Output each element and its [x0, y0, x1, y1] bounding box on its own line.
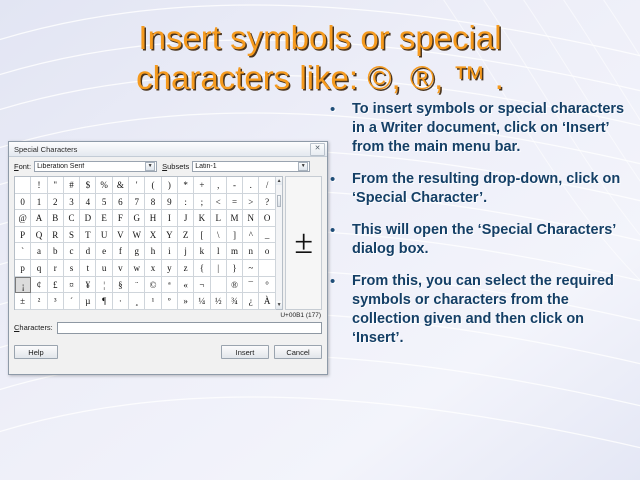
bullet-text: To insert symbols or special characters …: [352, 100, 636, 157]
insert-button[interactable]: Insert: [221, 345, 269, 359]
list-item: • From this, you can select the required…: [326, 272, 636, 348]
character-cell[interactable]: :: [178, 194, 194, 211]
character-cell[interactable]: 3: [64, 194, 80, 211]
character-cell[interactable]: B: [48, 210, 64, 227]
bullet-marker-icon: •: [326, 100, 352, 119]
character-cell[interactable]: £: [48, 277, 64, 294]
character-cell[interactable]: ®: [227, 277, 243, 294]
character-cell[interactable]: ,: [211, 177, 227, 194]
bullet-marker-icon: •: [326, 272, 352, 291]
bullet-text: This will open the ‘Special Characters’ …: [352, 221, 636, 259]
title-line-2: characters like: ©, ®, ™ .: [40, 58, 600, 98]
character-cell[interactable]: z: [178, 260, 194, 277]
character-cell[interactable]: t: [80, 260, 96, 277]
bullet-list: • To insert symbols or special character…: [326, 100, 636, 361]
character-cell[interactable]: º: [162, 293, 178, 310]
list-item: • From the resulting drop-down, click on…: [326, 170, 636, 208]
character-cell[interactable]: 8: [145, 194, 161, 211]
character-cell[interactable]: 9: [162, 194, 178, 211]
preview-character: ±: [294, 226, 313, 260]
character-cell[interactable]: ¬: [194, 277, 210, 294]
character-cell[interactable]: a: [31, 243, 47, 260]
character-cell[interactable]: K: [194, 210, 210, 227]
character-cell[interactable]: ©: [145, 277, 161, 294]
character-cell[interactable]: =: [227, 194, 243, 211]
character-cell[interactable]: w: [129, 260, 145, 277]
character-cell[interactable]: Y: [162, 227, 178, 244]
character-cell[interactable]: b: [48, 243, 64, 260]
title-line-1: Insert symbols or special: [40, 18, 600, 58]
list-item: • To insert symbols or special character…: [326, 100, 636, 157]
character-cell[interactable]: o: [259, 243, 275, 260]
character-cell[interactable]: d: [80, 243, 96, 260]
scroll-down-icon[interactable]: ▼: [276, 301, 283, 309]
character-cell[interactable]: ¢: [31, 277, 47, 294]
character-cell[interactable]: µ: [80, 293, 96, 310]
character-cell[interactable]: ¨: [129, 277, 145, 294]
character-cell[interactable]: x: [145, 260, 161, 277]
scroll-up-icon[interactable]: ▲: [276, 177, 283, 185]
character-cell[interactable]: m: [227, 243, 243, 260]
character-cell[interactable]: 6: [113, 194, 129, 211]
cancel-button[interactable]: Cancel: [274, 345, 322, 359]
character-cell[interactable]: -: [227, 177, 243, 194]
character-cell[interactable]: .: [243, 177, 259, 194]
help-button[interactable]: Help: [14, 345, 58, 359]
character-cell[interactable]: ª: [162, 277, 178, 294]
character-cell[interactable]: ¿: [243, 293, 259, 310]
dialog-button-row: Help Insert Cancel: [14, 345, 322, 364]
dialog-title: Special Characters: [14, 145, 310, 154]
character-cell[interactable]: $: [80, 177, 96, 194]
character-cell[interactable]: 4: [80, 194, 96, 211]
character-cell[interactable]: 1: [31, 194, 47, 211]
font-label: Font:: [14, 162, 31, 171]
character-cell[interactable]: ²: [31, 293, 47, 310]
character-cell[interactable]: ³: [48, 293, 64, 310]
character-cell[interactable]: _: [259, 227, 275, 244]
character-cell[interactable]: >: [243, 194, 259, 211]
character-cell[interactable]: ¹: [145, 293, 161, 310]
character-grid[interactable]: !"#$%&'()*+,-./0123456789:;<=>?@ABCDEFGH…: [14, 176, 276, 310]
font-dropdown[interactable]: Liberation Serif ▼: [34, 161, 157, 172]
character-cell[interactable]: g: [129, 243, 145, 260]
bullet-text: From this, you can select the required s…: [352, 272, 636, 348]
character-cell[interactable]: 0: [15, 194, 31, 211]
scrollbar-track[interactable]: [276, 207, 283, 301]
character-cell[interactable]: ¤: [64, 277, 80, 294]
character-cell[interactable]: ¥: [80, 277, 96, 294]
slide-canvas: Insert symbols or special characters lik…: [0, 0, 640, 480]
character-cell[interactable]: R: [48, 227, 64, 244]
character-cell[interactable]: !: [31, 177, 47, 194]
character-cell[interactable]: u: [96, 260, 112, 277]
character-cell[interactable]: ½: [211, 293, 227, 310]
page-title: Insert symbols or special characters lik…: [40, 18, 600, 98]
character-cell[interactable]: [259, 260, 275, 277]
character-cell[interactable]: O: [259, 210, 275, 227]
close-icon[interactable]: ✕: [310, 143, 325, 156]
character-cell[interactable]: N: [243, 210, 259, 227]
character-cell[interactable]: [15, 177, 31, 194]
character-code-row: U+00B1 (177): [14, 312, 322, 319]
character-cell[interactable]: F: [113, 210, 129, 227]
character-cell[interactable]: T: [80, 227, 96, 244]
character-cell[interactable]: \: [211, 227, 227, 244]
character-cell[interactable]: @: [15, 210, 31, 227]
character-cell[interactable]: j: [178, 243, 194, 260]
character-cell[interactable]: L: [211, 210, 227, 227]
characters-field-row: Characters:: [14, 322, 322, 334]
scrollbar-thumb[interactable]: [277, 195, 282, 207]
character-cell[interactable]: (: [145, 177, 161, 194]
chevron-down-icon[interactable]: ▼: [298, 162, 308, 171]
character-cell[interactable]: D: [80, 210, 96, 227]
character-cell[interactable]: l: [211, 243, 227, 260]
character-cell[interactable]: {: [194, 260, 210, 277]
character-cell[interactable]: °: [259, 277, 275, 294]
character-cell[interactable]: v: [113, 260, 129, 277]
chevron-down-icon[interactable]: ▼: [145, 162, 155, 171]
dialog-titlebar: Special Characters ✕: [9, 142, 327, 157]
character-cell[interactable]: I: [162, 210, 178, 227]
character-cell[interactable]: n: [243, 243, 259, 260]
character-cell[interactable]: ­: [211, 277, 227, 294]
character-cell[interactable]: C: [64, 210, 80, 227]
character-cell[interactable]: H: [145, 210, 161, 227]
character-cell[interactable]: |: [211, 260, 227, 277]
character-cell[interactable]: ]: [227, 227, 243, 244]
character-cell[interactable]: }: [227, 260, 243, 277]
characters-input[interactable]: [57, 322, 322, 334]
character-cell[interactable]: S: [64, 227, 80, 244]
character-cell[interactable]: Q: [31, 227, 47, 244]
bullet-marker-icon: •: [326, 170, 352, 189]
character-cell[interactable]: ¾: [227, 293, 243, 310]
character-cell[interactable]: /: [259, 177, 275, 194]
character-cell[interactable]: k: [194, 243, 210, 260]
subsets-label: Subsets: [162, 162, 189, 171]
character-cell[interactable]: X: [145, 227, 161, 244]
character-cell[interactable]: +: [194, 177, 210, 194]
character-cell[interactable]: c: [64, 243, 80, 260]
special-characters-dialog: Special Characters ✕ Font: Liberation Se…: [8, 141, 328, 375]
character-cell[interactable]: i: [162, 243, 178, 260]
character-cell[interactable]: ¼: [194, 293, 210, 310]
character-cell[interactable]: ¸: [129, 293, 145, 310]
character-cell[interactable]: A: [31, 210, 47, 227]
bullet-text: From the resulting drop-down, click on ‘…: [352, 170, 636, 208]
character-cell[interactable]: Z: [178, 227, 194, 244]
character-cell[interactable]: ¯: [243, 277, 259, 294]
font-value: Liberation Serif: [35, 163, 145, 170]
character-cell[interactable]: ´: [64, 293, 80, 310]
bullet-marker-icon: •: [326, 221, 352, 240]
character-cell[interactable]: V: [113, 227, 129, 244]
character-cell[interactable]: 5: [96, 194, 112, 211]
character-grid-area: !"#$%&'()*+,-./0123456789:;<=>?@ABCDEFGH…: [14, 176, 322, 310]
character-cell[interactable]: E: [96, 210, 112, 227]
character-cell[interactable]: ?: [259, 194, 275, 211]
character-cell[interactable]: À: [259, 293, 275, 310]
character-cell[interactable]: ^: [243, 227, 259, 244]
character-preview: ±: [285, 176, 322, 310]
character-cell[interactable]: U: [96, 227, 112, 244]
list-item: • This will open the ‘Special Characters…: [326, 221, 636, 259]
character-cell[interactable]: r: [48, 260, 64, 277]
character-cell[interactable]: ·: [113, 293, 129, 310]
character-cell[interactable]: J: [178, 210, 194, 227]
character-cell[interactable]: s: [64, 260, 80, 277]
character-cell[interactable]: h: [145, 243, 161, 260]
character-cell[interactable]: M: [227, 210, 243, 227]
character-cell[interactable]: ): [162, 177, 178, 194]
character-cell[interactable]: W: [129, 227, 145, 244]
characters-label: Characters:: [14, 323, 53, 332]
character-cell[interactable]: f: [113, 243, 129, 260]
character-cell[interactable]: y: [162, 260, 178, 277]
font-selector-row: Font: Liberation Serif ▼ Subsets Latin-1…: [14, 161, 322, 172]
character-cell[interactable]: ~: [243, 260, 259, 277]
character-cell[interactable]: [: [194, 227, 210, 244]
character-cell[interactable]: 2: [48, 194, 64, 211]
character-cell[interactable]: 7: [129, 194, 145, 211]
dialog-body: Font: Liberation Serif ▼ Subsets Latin-1…: [9, 157, 327, 364]
character-cell[interactable]: `: [15, 243, 31, 260]
character-cell[interactable]: P: [15, 227, 31, 244]
character-cell[interactable]: <: [211, 194, 227, 211]
character-cell[interactable]: %: [96, 177, 112, 194]
character-code: U+00B1 (177): [280, 312, 321, 319]
character-cell[interactable]: &: [113, 177, 129, 194]
character-cell[interactable]: q: [31, 260, 47, 277]
grid-scrollbar[interactable]: ▲ ▼: [276, 176, 284, 310]
character-cell[interactable]: ¦: [96, 277, 112, 294]
character-cell[interactable]: *: [178, 177, 194, 194]
character-cell[interactable]: ¡: [15, 277, 31, 294]
character-cell[interactable]: ±: [15, 293, 31, 310]
character-cell[interactable]: G: [129, 210, 145, 227]
subsets-dropdown[interactable]: Latin-1 ▼: [192, 161, 310, 172]
character-cell[interactable]: ': [129, 177, 145, 194]
character-cell[interactable]: ¶: [96, 293, 112, 310]
character-cell[interactable]: «: [178, 277, 194, 294]
character-cell[interactable]: »: [178, 293, 194, 310]
subsets-value: Latin-1: [193, 163, 298, 170]
character-cell[interactable]: e: [96, 243, 112, 260]
character-cell[interactable]: §: [113, 277, 129, 294]
character-cell[interactable]: p: [15, 260, 31, 277]
character-cell[interactable]: ": [48, 177, 64, 194]
character-cell[interactable]: #: [64, 177, 80, 194]
character-cell[interactable]: ;: [194, 194, 210, 211]
